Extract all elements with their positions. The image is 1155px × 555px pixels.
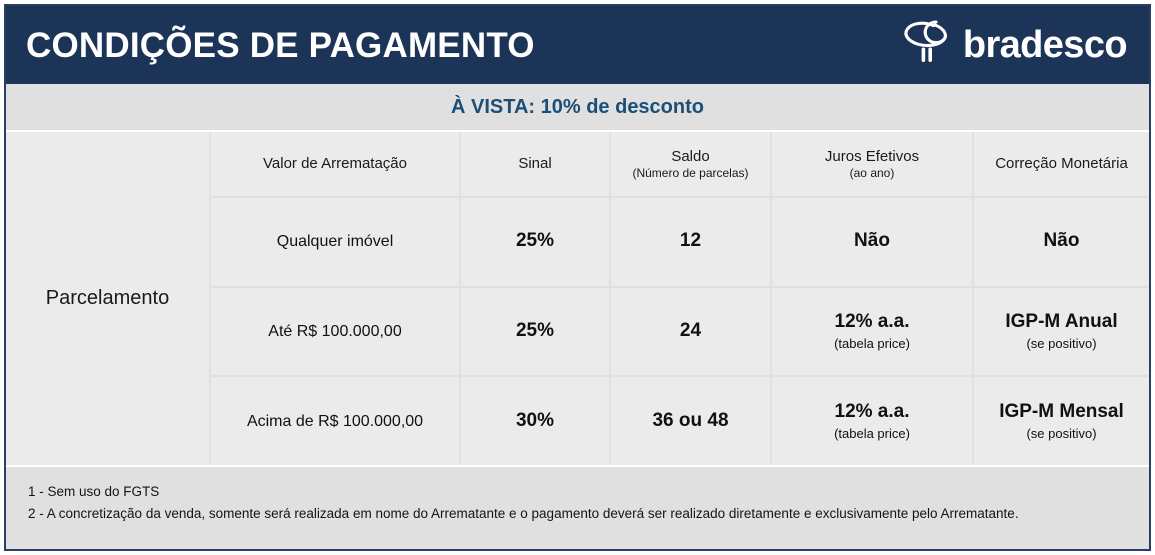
cell-saldo: 12 — [611, 198, 770, 286]
column-header-title: Valor de Arrematação — [263, 155, 407, 172]
cell-value: Até R$ 100.000,00 — [268, 322, 401, 341]
cell-value: 12% a.a. — [835, 311, 910, 334]
cell-subvalue: (tabela price) — [834, 336, 910, 352]
footnote-2: 2 - A concretização da venda, somente se… — [28, 503, 1149, 525]
cell-valor: Acima de R$ 100.000,00 — [211, 377, 459, 465]
column-header-title: Juros Efetivos — [825, 148, 919, 165]
row-group-label: Parcelamento — [6, 132, 209, 465]
row-group-label-text: Parcelamento — [46, 287, 169, 310]
footnotes: 1 - Sem uso do FGTS 2 - A concretização … — [6, 465, 1149, 549]
column-header-valor: Valor de Arrematação — [211, 132, 459, 196]
cell-value: 25% — [516, 230, 554, 253]
cell-sinal: 25% — [461, 288, 609, 376]
cell-value: IGP-M Mensal — [999, 401, 1124, 424]
cell-value: 25% — [516, 320, 554, 343]
cell-value: Qualquer imóvel — [277, 232, 394, 251]
cell-correcao: IGP-M Mensal (se positivo) — [974, 377, 1149, 465]
column-header-saldo: Saldo (Número de parcelas) — [611, 132, 770, 196]
cell-valor: Qualquer imóvel — [211, 198, 459, 286]
card-header: CONDIÇÕES DE PAGAMENTO bradesco — [6, 6, 1149, 84]
cell-value: Acima de R$ 100.000,00 — [247, 412, 423, 431]
cell-value: 30% — [516, 410, 554, 433]
cell-value: IGP-M Anual — [1005, 311, 1117, 334]
cell-subvalue: (se positivo) — [1026, 426, 1096, 442]
column-header-juros: Juros Efetivos (ao ano) — [772, 132, 972, 196]
table-row: Até R$ 100.000,00 25% 24 12% a.a. (tabel… — [211, 288, 1149, 376]
cell-value: Não — [854, 230, 890, 253]
table-grid: Valor de Arrematação Sinal Saldo (Número… — [211, 132, 1149, 465]
cash-discount-banner: À VISTA: 10% de desconto — [6, 84, 1149, 132]
cell-subvalue: (se positivo) — [1026, 336, 1096, 352]
column-header-title: Sinal — [518, 155, 551, 172]
bradesco-wordmark: bradesco — [963, 26, 1127, 64]
conditions-table: Parcelamento Valor de Arrematação Sinal … — [6, 132, 1149, 465]
cell-sinal: 25% — [461, 198, 609, 286]
cell-sinal: 30% — [461, 377, 609, 465]
cell-value: 24 — [680, 320, 701, 343]
bradesco-logo: bradesco — [900, 19, 1127, 72]
cell-value: 12 — [680, 230, 701, 253]
footnote-1: 1 - Sem uso do FGTS — [28, 481, 1149, 503]
cell-correcao: Não — [974, 198, 1149, 286]
payment-conditions-card: CONDIÇÕES DE PAGAMENTO bradesco À VISTA:… — [4, 4, 1151, 551]
table-header-row: Valor de Arrematação Sinal Saldo (Número… — [211, 132, 1149, 196]
column-header-title: Correção Monetária — [995, 155, 1128, 172]
column-header-subtitle: (ao ano) — [850, 166, 895, 180]
page-title: CONDIÇÕES DE PAGAMENTO — [26, 28, 535, 63]
cell-value: 12% a.a. — [835, 401, 910, 424]
cell-valor: Até R$ 100.000,00 — [211, 288, 459, 376]
column-header-title: Saldo — [671, 148, 709, 165]
cell-saldo: 24 — [611, 288, 770, 376]
column-header-correcao: Correção Monetária — [974, 132, 1149, 196]
column-header-sinal: Sinal — [461, 132, 609, 196]
cell-subvalue: (tabela price) — [834, 426, 910, 442]
cell-juros: Não — [772, 198, 972, 286]
cell-juros: 12% a.a. (tabela price) — [772, 288, 972, 376]
cell-value: 36 ou 48 — [652, 410, 728, 433]
cash-discount-text: À VISTA: 10% de desconto — [451, 96, 704, 119]
cell-correcao: IGP-M Anual (se positivo) — [974, 288, 1149, 376]
cell-juros: 12% a.a. (tabela price) — [772, 377, 972, 465]
cell-saldo: 36 ou 48 — [611, 377, 770, 465]
table-row: Qualquer imóvel 25% 12 Não Não — [211, 198, 1149, 286]
column-header-subtitle: (Número de parcelas) — [632, 166, 748, 180]
cell-value: Não — [1044, 230, 1080, 253]
table-row: Acima de R$ 100.000,00 30% 36 ou 48 12% … — [211, 377, 1149, 465]
bradesco-tree-icon — [900, 19, 954, 72]
